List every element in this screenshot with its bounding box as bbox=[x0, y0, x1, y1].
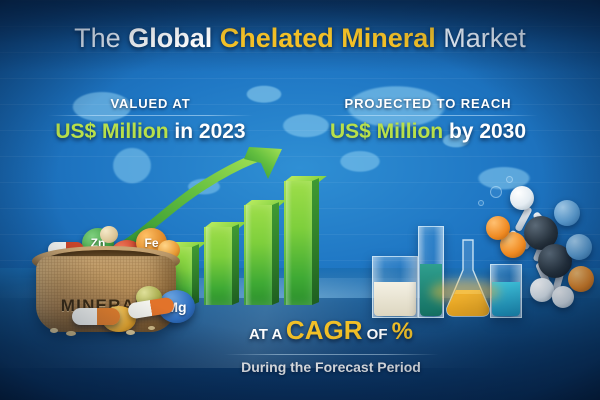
vignette-overlay bbox=[0, 0, 600, 400]
infographic-canvas: The Global Chelated Mineral Market VALUE… bbox=[0, 0, 600, 400]
